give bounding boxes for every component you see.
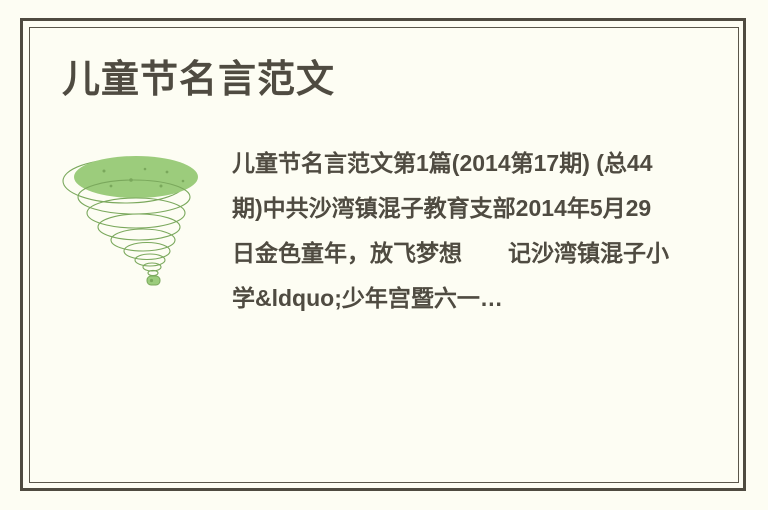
card-content: 儿童节名言范文	[29, 27, 739, 483]
article-excerpt: 儿童节名言范文第1篇(2014第17期) (总44期)中共沙湾镇混子教育支部20…	[232, 141, 672, 321]
article-card-page: 儿童节名言范文	[0, 0, 768, 510]
page-title: 儿童节名言范文	[62, 60, 335, 102]
tornado-illustration-icon	[57, 139, 207, 299]
